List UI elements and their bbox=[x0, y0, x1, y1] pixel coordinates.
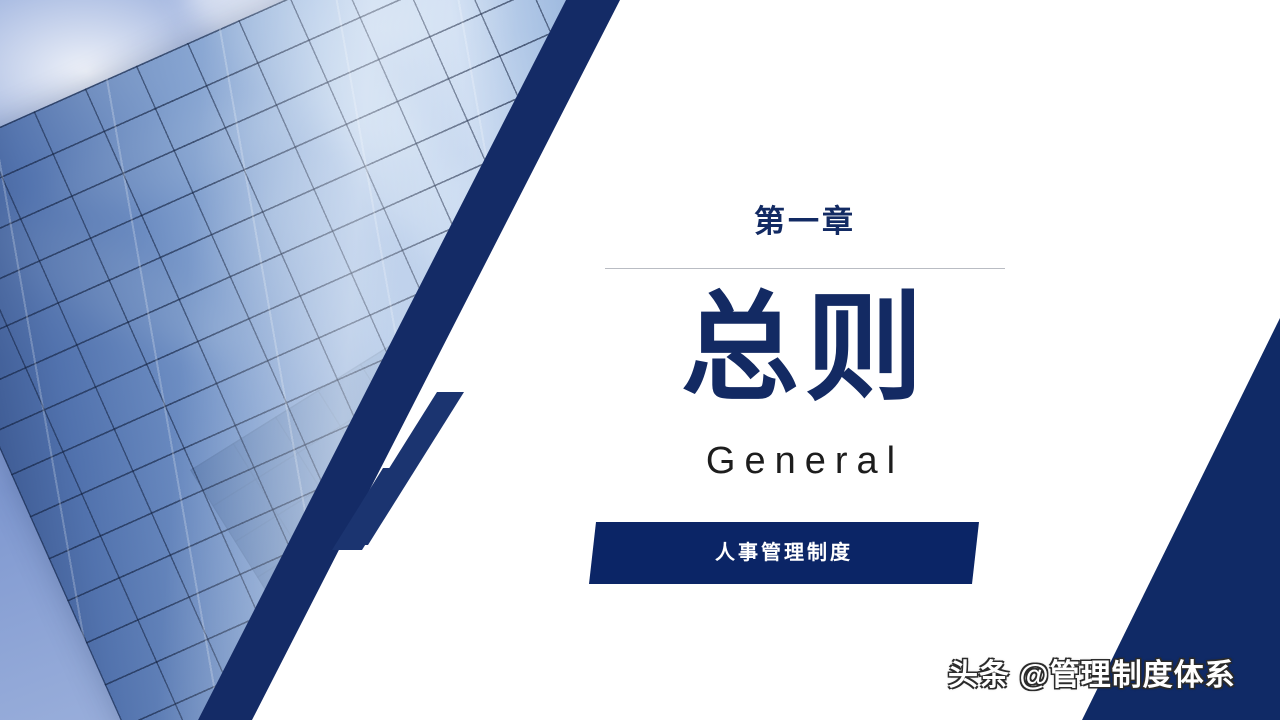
banner-badge: 人事管理制度 bbox=[589, 522, 979, 584]
page-title: 总则 bbox=[605, 288, 1005, 412]
banner-label: 人事管理制度 bbox=[715, 543, 853, 563]
page-subtitle: General bbox=[605, 442, 1005, 480]
slide-canvas: 第一章 总则 General 人事管理制度 头条 @管理制度体系 bbox=[0, 0, 1280, 720]
decorative-slash-short bbox=[332, 468, 413, 550]
tower-floor-edges bbox=[0, 0, 620, 720]
building-photo bbox=[0, 0, 620, 720]
wedge-white-slash bbox=[1158, 392, 1236, 508]
tower-shadow-reflection bbox=[398, 500, 620, 720]
title-divider bbox=[605, 268, 1005, 269]
watermark: 头条 @管理制度体系 bbox=[948, 650, 1236, 694]
decorative-slash-long bbox=[341, 392, 464, 545]
tower-facade bbox=[0, 0, 620, 720]
chapter-label: 第一章 bbox=[605, 206, 1005, 237]
